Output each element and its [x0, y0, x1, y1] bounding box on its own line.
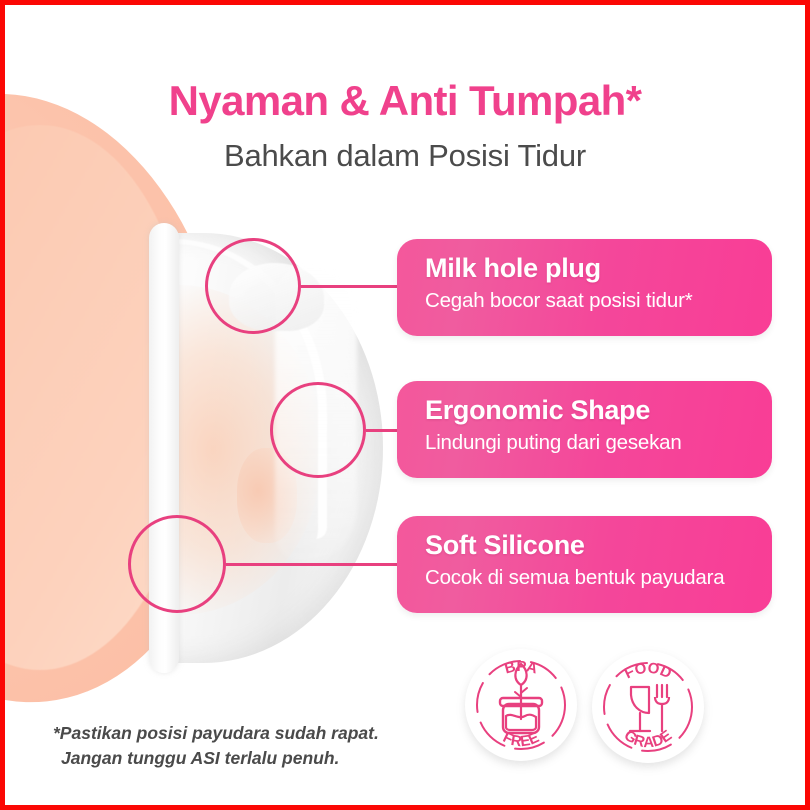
- feature-card-milk-hole-plug[interactable]: Milk hole plug Cegah bocor saat posisi t…: [397, 239, 772, 336]
- food-grade-glass-fork-icon: FOOD GRADE: [592, 651, 704, 763]
- feature-card-title: Ergonomic Shape: [425, 395, 772, 427]
- page-subtitle: Bahkan dalam Posisi Tidur: [5, 138, 805, 174]
- feature-card-soft-silicone[interactable]: Soft Silicone Cocok di semua bentuk payu…: [397, 516, 772, 613]
- connector-line-1: [301, 285, 401, 288]
- connector-line-3: [226, 563, 401, 566]
- connector-line-2: [366, 429, 401, 432]
- feature-card-ergonomic-shape[interactable]: Ergonomic Shape Lindungi puting dari ges…: [397, 381, 772, 478]
- bpa-free-badge: BPA FREE: [465, 649, 577, 761]
- page-title: Nyaman & Anti Tumpah*: [5, 77, 805, 125]
- annotation-circle-icon-3: [128, 515, 226, 613]
- footnote-line-1: *Pastikan posisi payudara sudah rapat.: [53, 723, 379, 743]
- footnote: *Pastikan posisi payudara sudah rapat. J…: [53, 721, 379, 772]
- feature-card-subtitle: Cegah bocor saat posisi tidur*: [425, 289, 772, 313]
- svg-text:BPA: BPA: [503, 658, 540, 678]
- feature-card-subtitle: Lindungi puting dari gesekan: [425, 431, 772, 455]
- poster-canvas: Nyaman & Anti Tumpah* Bahkan dalam Posis…: [5, 5, 805, 805]
- feature-card-subtitle: Cocok di semua bentuk payudara: [425, 566, 772, 590]
- product-feature-poster: Nyaman & Anti Tumpah* Bahkan dalam Posis…: [0, 0, 810, 810]
- food-grade-badge: FOOD GRADE: [592, 651, 704, 763]
- annotation-circle-icon-2: [270, 382, 366, 478]
- feature-card-title: Soft Silicone: [425, 530, 772, 562]
- feature-card-title: Milk hole plug: [425, 253, 772, 285]
- bpa-free-jar-leaf-icon: BPA FREE: [465, 649, 577, 761]
- footnote-line-2: Jangan tunggu ASI terlalu penuh.: [53, 746, 379, 771]
- badge-top-text: BPA: [503, 658, 540, 678]
- annotation-circle-icon-1: [205, 238, 301, 334]
